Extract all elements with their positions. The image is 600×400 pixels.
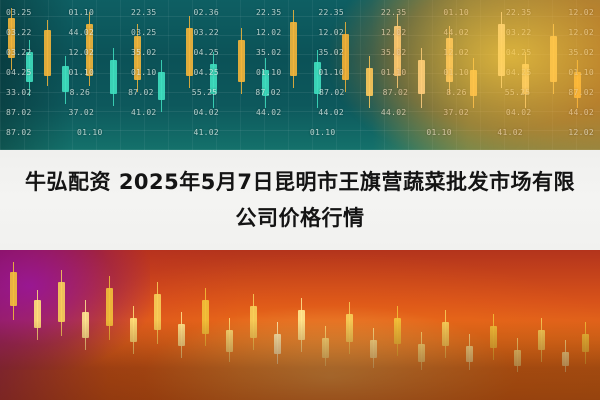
banner-image: 03.2501.1022.3502.3622.3522.3522.3501.10… — [0, 0, 600, 400]
bottom-chart-shadow — [0, 320, 600, 400]
title-band: 牛弘配资 2025年5月7日昆明市王旗营蔬菜批发市场有限公司价格行情 — [0, 150, 600, 250]
headline-text: 2025年5月7日昆明市王旗营蔬菜批发市场有限公司价格行情 — [119, 170, 575, 230]
banner-title: 牛弘配资 2025年5月7日昆明市王旗营蔬菜批发市场有限公司价格行情 — [24, 164, 576, 236]
top-chart-glow — [330, 0, 600, 170]
brand-name: 牛弘配资 — [25, 170, 111, 194]
